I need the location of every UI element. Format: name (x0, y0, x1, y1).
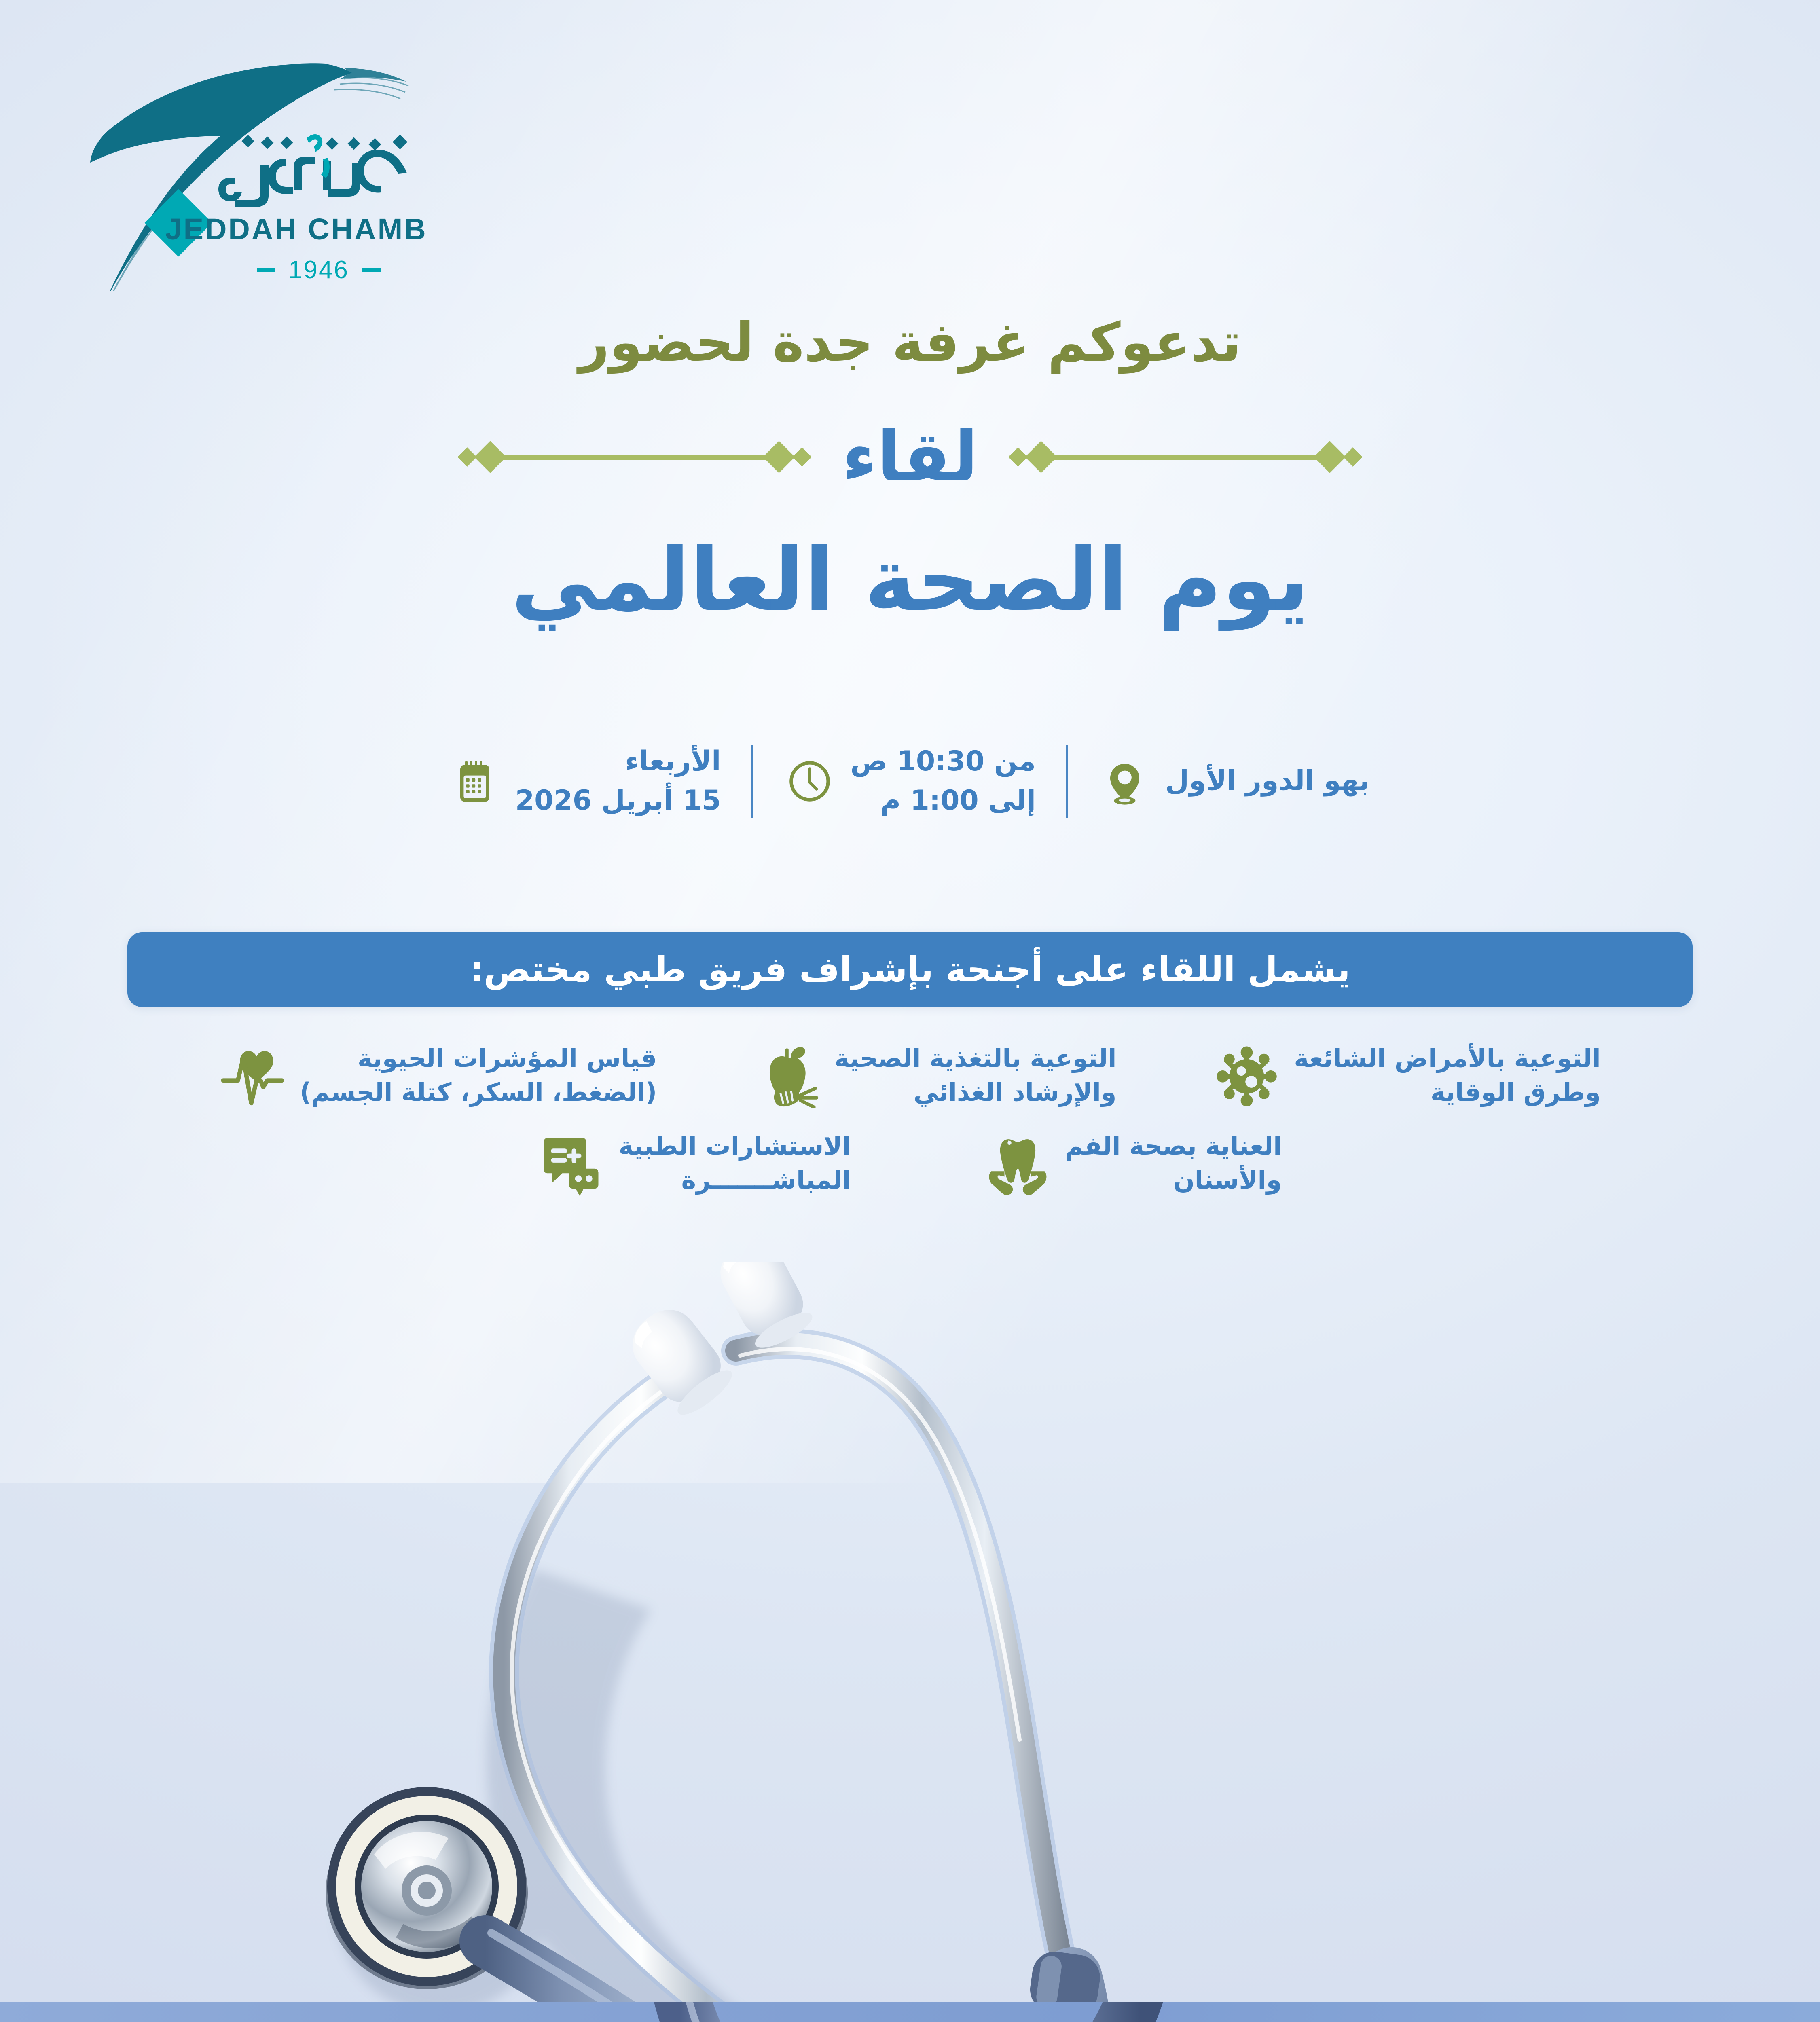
meta-date-line2: 15 أبريل 2026 (515, 781, 721, 821)
ornament-bar (1050, 455, 1321, 460)
ornament-small-diamond-icon (792, 447, 811, 467)
service-consultations: الاستشارات الطبية المباشـــــــرة (538, 1129, 851, 1197)
ornament-large-diamond-icon (1025, 441, 1057, 473)
ornament-left (455, 446, 814, 468)
meta-location-line1: بهو الدور الأول (1165, 761, 1369, 801)
service-label-line1: التوعية بالتغذية الصحية (834, 1043, 1116, 1073)
service-label-line2: (الضغط، السكر، كتلة الجسم) (300, 1075, 657, 1109)
service-label-line1: قياس المؤشرات الحيوية (358, 1043, 657, 1073)
meta-time-line1: من 10:30 ص (850, 742, 1036, 781)
stethoscope-illustration (0, 1262, 1820, 2022)
heartbeat-ecg-icon (219, 1042, 286, 1108)
service-label-line2: المباشـــــــرة (619, 1163, 851, 1197)
services-banner-text: يشمل اللقاء على أجنحة بإشراف فريق طبي مخ… (470, 950, 1350, 990)
svg-text:1946: 1946 (288, 256, 349, 284)
services-row-2: العناية بصحة الفم والأسنان (0, 1129, 1820, 1197)
location-pin-icon (1100, 757, 1149, 806)
meta-time-line2: إلى 1:00 م (850, 781, 1036, 821)
footer-bar: مـركـز الـتواصـل المـؤسسـي 920024200 (0, 2002, 1820, 2022)
jeddah-chamber-logo: JEDDAH CHAMBER 1946 (61, 57, 425, 291)
ornament-right (1006, 446, 1365, 468)
svg-text:JEDDAH CHAMBER: JEDDAH CHAMBER (165, 212, 425, 246)
services-row-1: التوعية بالأمراض الشائعة وطرق الوقاية (0, 1041, 1820, 1109)
ornament-small-diamond-icon (1343, 447, 1363, 467)
poster-canvas: JEDDAH CHAMBER 1946 تدعوكم غرفة جدة لحضو… (0, 0, 1820, 2022)
virus-icon (1213, 1042, 1280, 1108)
service-dental: العناية بصحة الفم والأسنان (984, 1129, 1282, 1197)
ornament-large-diamond-icon (474, 441, 506, 473)
service-common-diseases: التوعية بالأمراض الشائعة وطرق الوقاية (1213, 1041, 1600, 1109)
service-nutrition: التوعية بالتغذية الصحية والإرشاد الغذائي (754, 1041, 1116, 1109)
meta-location: بهو الدور الأول (1068, 742, 1402, 820)
event-meta-row: بهو الدور الأول من 10:30 ص إلى 1:00 م (0, 742, 1820, 820)
service-label-line1: الاستشارات الطبية (619, 1131, 851, 1161)
page-title: يوم الصحة العالمي (0, 530, 1820, 630)
service-label-line2: وطرق الوقاية (1294, 1075, 1600, 1109)
event-type-row: لقاء (0, 423, 1820, 491)
tooth-hands-icon (984, 1130, 1051, 1197)
ornament-large-diamond-icon (1314, 441, 1346, 473)
meta-date-line1: الأربعاء (515, 742, 721, 781)
service-label-line1: التوعية بالأمراض الشائعة (1294, 1043, 1600, 1073)
service-label-line2: والإرشاد الغذائي (834, 1075, 1116, 1109)
invitation-line: تدعوكم غرفة جدة لحضور (0, 311, 1820, 374)
calendar-icon (451, 757, 499, 806)
ornament-small-diamond-icon (1008, 447, 1028, 467)
meta-time: من 10:30 ص إلى 1:00 م (753, 742, 1068, 820)
meta-date: الأربعاء 15 أبريل 2026 (418, 742, 753, 820)
service-vitals: قياس المؤشرات الحيوية (الضغط، السكر، كتل… (219, 1041, 657, 1109)
ornament-large-diamond-icon (763, 441, 795, 473)
ornament-bar (499, 455, 770, 460)
services-banner: يشمل اللقاء على أجنحة بإشراف فريق طبي مخ… (127, 932, 1693, 1007)
service-label-line2: والأسنان (1065, 1163, 1282, 1197)
clock-icon (785, 757, 834, 806)
chat-medical-icon (538, 1130, 605, 1197)
event-type-label: لقاء (814, 423, 1007, 491)
services-list: التوعية بالأمراض الشائعة وطرق الوقاية (0, 1041, 1820, 1197)
footer-stethoscope-tube (0, 2002, 1820, 2022)
ornament-small-diamond-icon (457, 447, 476, 467)
apple-carrot-icon (754, 1042, 821, 1108)
service-label-line1: العناية بصحة الفم (1065, 1131, 1282, 1161)
